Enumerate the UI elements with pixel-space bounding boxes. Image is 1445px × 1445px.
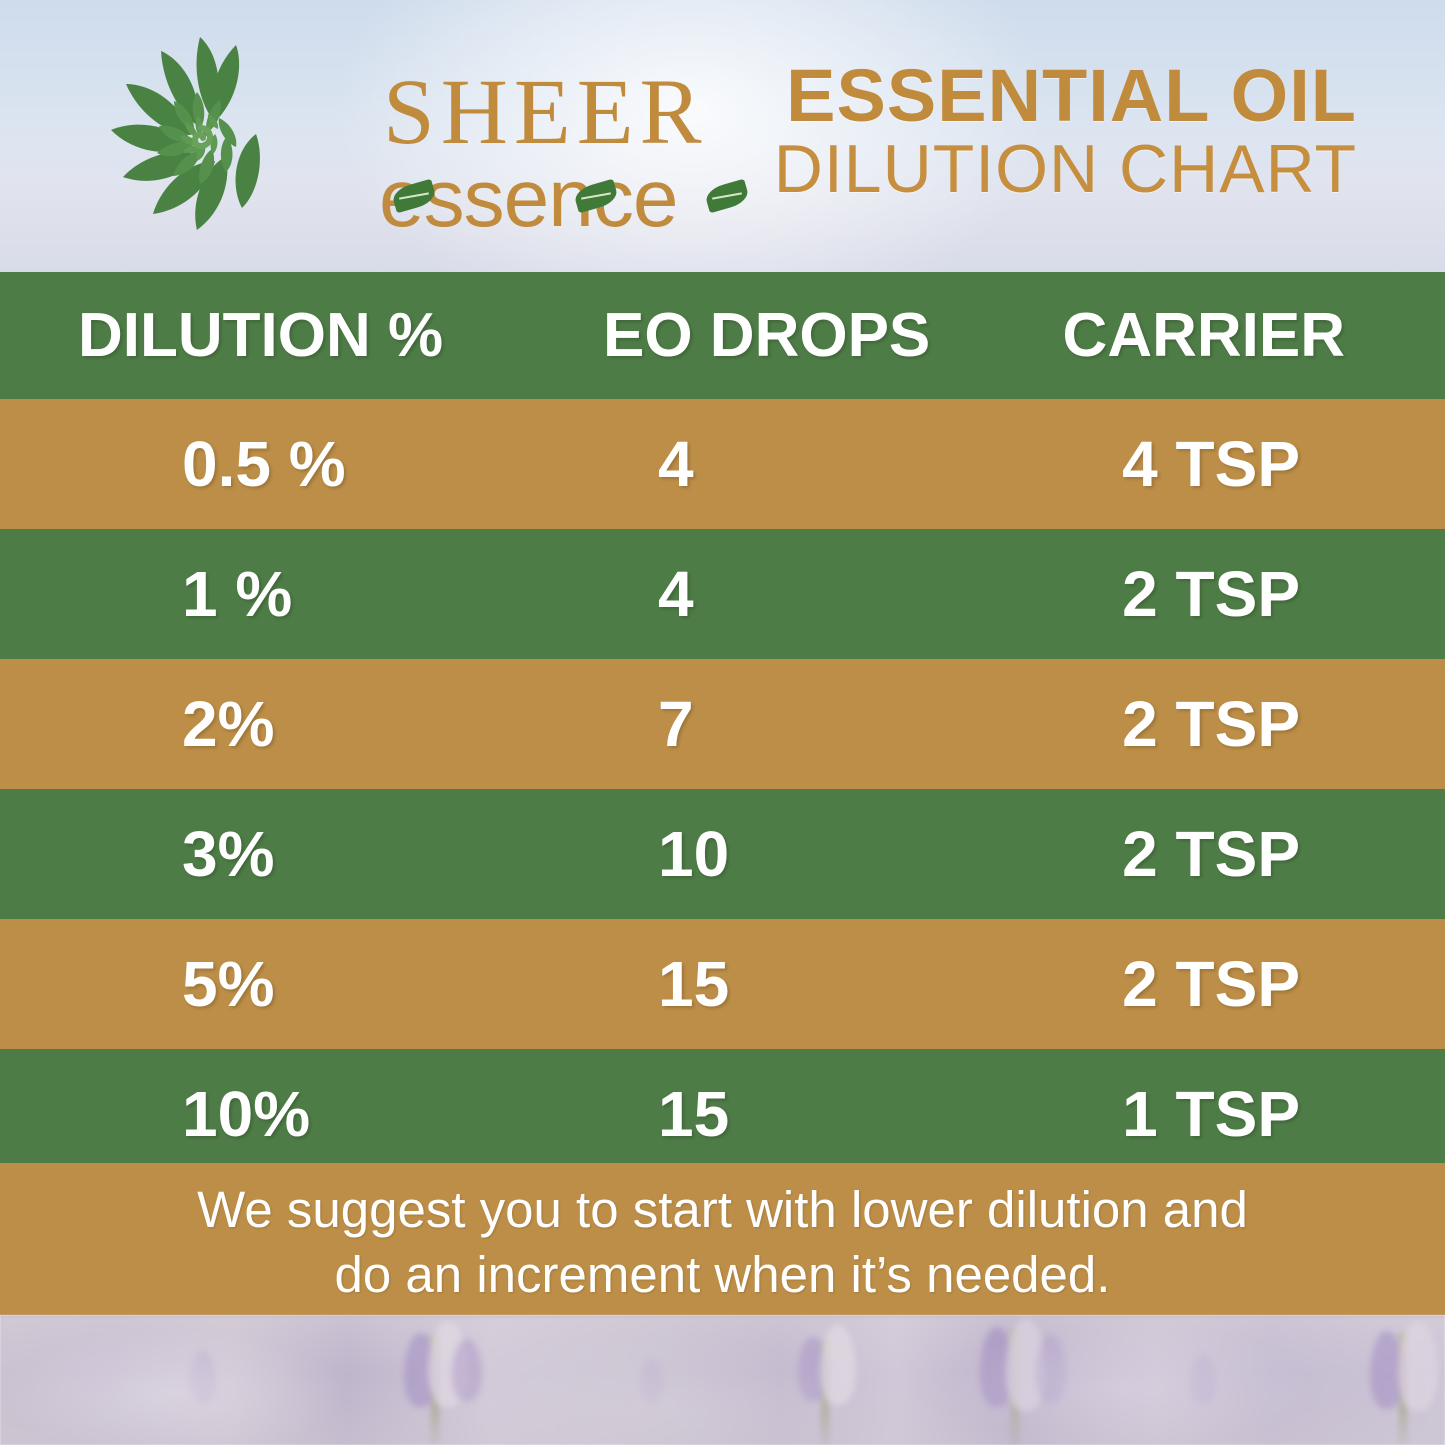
table-row: 5% 15 2 TSP [0,919,1445,1049]
table-row: 0.5 % 4 4 TSP [0,399,1445,529]
brand-wordmark: SHEER essence [275,28,705,243]
dilution-table: DILUTION % EO DROPS CARRIER 0.5 % 4 4 TS… [0,272,1445,1179]
brand-logo: SHEER essence [105,28,705,248]
column-header-carrier: CARRIER [945,300,1445,371]
column-header-drops: EO DROPS [525,300,945,371]
cell-dilution: 0.5 % [0,427,525,501]
table-row: 2% 7 2 TSP [0,659,1445,789]
table-row: 1 % 4 2 TSP [0,529,1445,659]
column-header-dilution: DILUTION % [0,300,525,371]
leaf-accent-icon-3 [704,179,751,214]
suggestion-note-line1: We suggest you to start with lower dilut… [197,1177,1248,1242]
cell-drops: 4 [525,427,945,501]
dilution-chart-page: SHEER essence ESSENTIAL OIL DILUTION CHA… [0,0,1445,1445]
lavender-field-photo [0,1315,1445,1445]
cell-drops: 10 [525,817,945,891]
cell-carrier: 2 TSP [945,557,1445,631]
cell-dilution: 10% [0,1077,525,1151]
suggestion-note: We suggest you to start with lower dilut… [0,1163,1445,1315]
cell-drops: 4 [525,557,945,631]
cell-drops: 7 [525,687,945,761]
lavender-bloom [1036,1335,1066,1403]
photo-haze-overlay [0,1315,1445,1445]
photo-top-edge [0,1315,1445,1318]
table-header-row: DILUTION % EO DROPS CARRIER [0,272,1445,399]
lavender-bloom [452,1339,482,1401]
cell-carrier: 4 TSP [945,427,1445,501]
brand-name-top: SHEER [383,66,708,159]
cell-dilution: 5% [0,947,525,1021]
cell-dilution: 3% [0,817,525,891]
cell-carrier: 2 TSP [945,817,1445,891]
lavender-bloom [190,1351,216,1403]
cell-dilution: 2% [0,687,525,761]
table-row: 10% 15 1 TSP [0,1049,1445,1179]
cell-dilution: 1 % [0,557,525,631]
table-row: 3% 10 2 TSP [0,789,1445,919]
suggestion-note-line2: do an increment when it’s needed. [335,1242,1111,1307]
cell-drops: 15 [525,947,945,1021]
cell-carrier: 1 TSP [945,1077,1445,1151]
header-banner: SHEER essence ESSENTIAL OIL DILUTION CHA… [0,0,1445,272]
cell-carrier: 2 TSP [945,687,1445,761]
page-title-line2: DILUTION CHART [774,135,1357,204]
lavender-bloom [640,1359,664,1405]
lavender-bloom [820,1325,856,1405]
page-title: ESSENTIAL OIL DILUTION CHART [774,58,1357,205]
lavender-bloom [1190,1355,1216,1405]
page-title-line1: ESSENTIAL OIL [774,58,1357,133]
leaf-spiral-flower-icon [105,34,290,234]
lavender-bloom [1398,1321,1438,1411]
cell-carrier: 2 TSP [945,947,1445,1021]
cell-drops: 15 [525,1077,945,1151]
